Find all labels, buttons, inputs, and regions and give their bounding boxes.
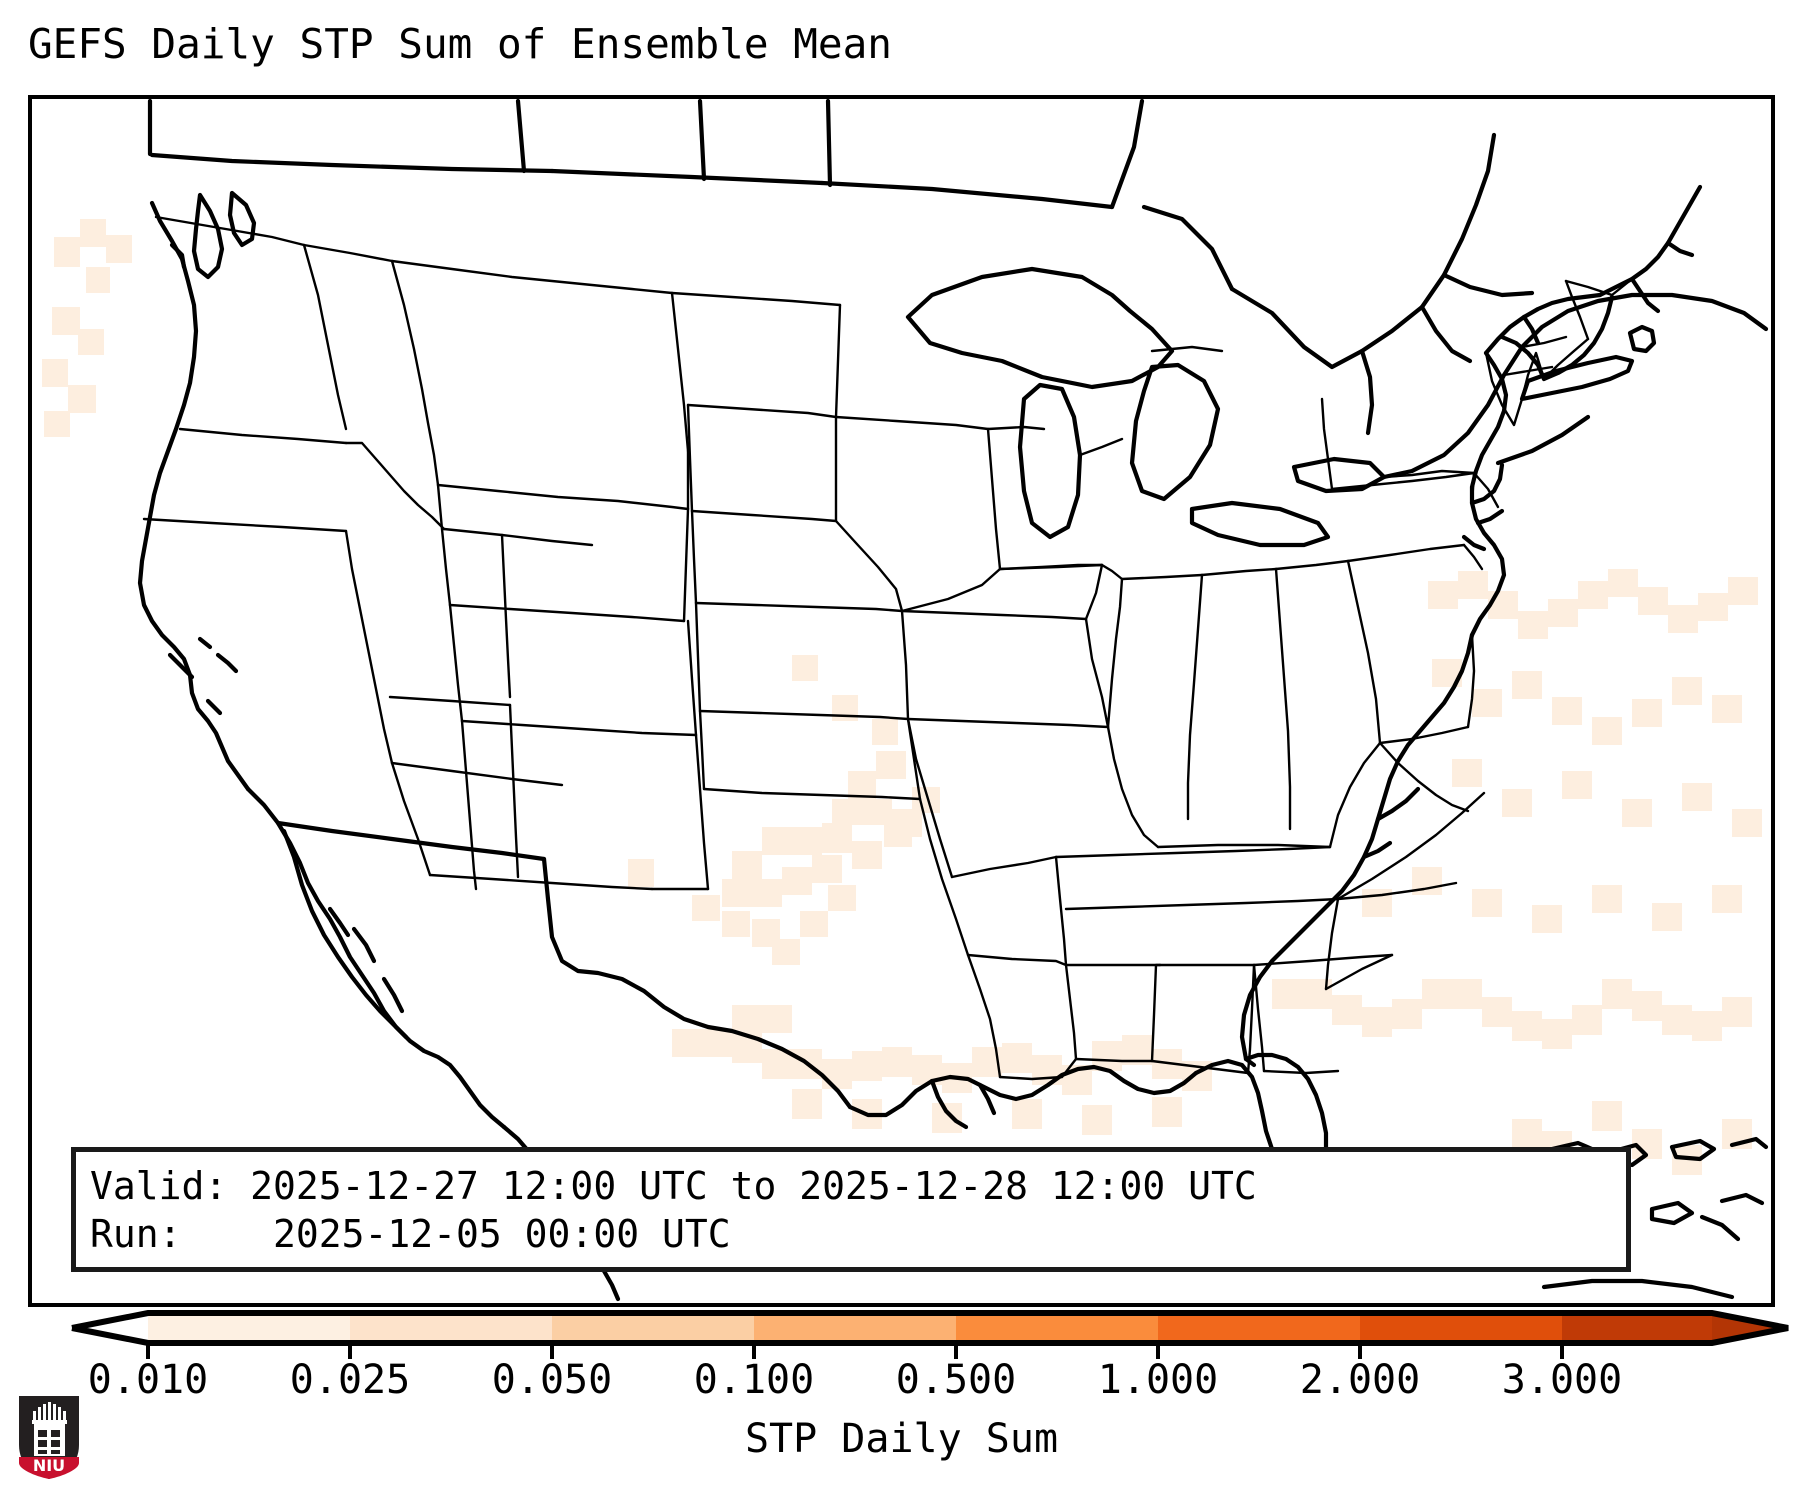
- niu-logo: NIU: [16, 1393, 82, 1481]
- colorbar-bands: [148, 1313, 1712, 1343]
- colorbar[interactable]: 0.010 0.025 0.050 0.100 0.500 1.000 2.00…: [0, 1307, 1803, 1397]
- colorbar-tick-label: 2.000: [1300, 1357, 1420, 1403]
- colorbar-tick-label: 0.500: [896, 1357, 1016, 1403]
- colorbar-axis-label: STP Daily Sum: [0, 1415, 1803, 1463]
- colorbar-tick-label: 0.100: [694, 1357, 814, 1403]
- niu-wordmark: NIU: [33, 1456, 65, 1475]
- colorbar-tick-label: 0.025: [290, 1357, 410, 1403]
- colorbar-tick-label: 3.000: [1502, 1357, 1622, 1403]
- colorbar-tick-label: 0.050: [492, 1357, 612, 1403]
- weather-map-figure: GEFS Daily STP Sum of Ensemble Mean: [0, 0, 1803, 1500]
- colorbar-tick-label: 0.010: [88, 1357, 208, 1403]
- basemap-outlines: [32, 99, 1771, 1303]
- run-time-text: Run: 2025-12-05 00:00 UTC: [90, 1212, 731, 1256]
- page-title: GEFS Daily STP Sum of Ensemble Mean: [28, 18, 892, 70]
- map-panel[interactable]: Valid: 2025-12-27 12:00 UTC to 2025-12-2…: [28, 95, 1775, 1307]
- info-box: Valid: 2025-12-27 12:00 UTC to 2025-12-2…: [71, 1147, 1631, 1272]
- valid-time-text: Valid: 2025-12-27 12:00 UTC to 2025-12-2…: [90, 1164, 1257, 1208]
- colorbar-tick-label: 1.000: [1098, 1357, 1218, 1403]
